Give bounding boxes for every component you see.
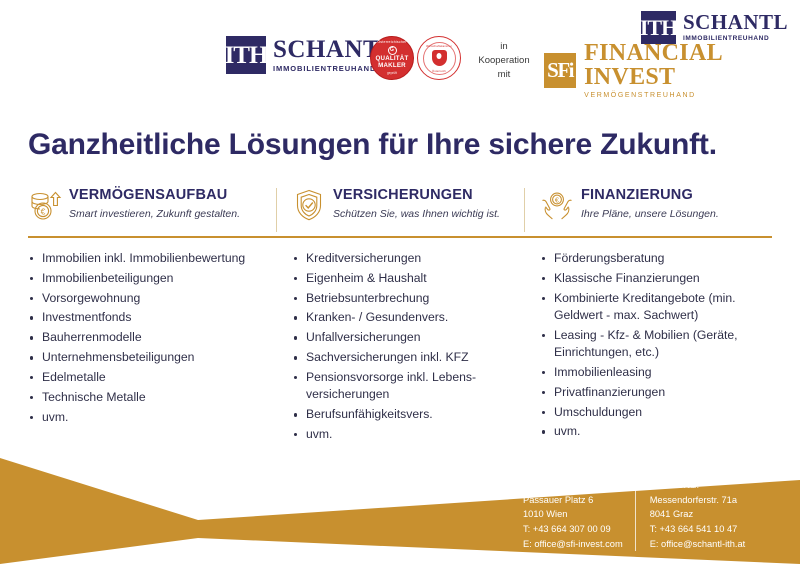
sfi-logo-subtitle: VERMÖGENSTREUHAND	[584, 92, 800, 99]
quality-seal-top-text: Österreichischer	[377, 41, 406, 45]
sfi-logo-mark: SFi	[544, 53, 576, 88]
quality-seal-ring-icon: G	[388, 46, 397, 55]
list-item: Immobilien inkl. Immobilienbewertung	[28, 250, 266, 267]
office-phone[interactable]: T: +43 664 541 10 47	[650, 522, 746, 537]
column-title-group: FINANZIERUNG Ihre Pläne, unsere Lösungen…	[581, 186, 719, 221]
list-item: Pensionsvorsorge inkl. Lebens-versicheru…	[292, 369, 514, 404]
crest-shield-icon	[432, 50, 447, 66]
office-phone[interactable]: T: +43 664 307 00 09	[523, 522, 623, 537]
page-headline: Ganzheitliche Lösungen für Ihre sichere …	[28, 128, 717, 162]
list-item: Leasing - Kfz- & Mobilien (Geräte, Einri…	[540, 327, 762, 362]
service-lists: Immobilien inkl. ImmobilienbewertungImmo…	[28, 250, 772, 446]
list-item: Sachversicherungen inkl. KFZ	[292, 349, 514, 366]
list-item: Förderungsberatung	[540, 250, 762, 267]
ith-schantl-logo-secondary: ITH SCHANTL IMMOBILIENTREUHAND	[641, 11, 788, 44]
column-divider	[276, 188, 277, 232]
list-item: uvm.	[540, 423, 762, 440]
office-name: Office Graz:	[650, 478, 746, 493]
office-graz-block: Office Graz: Messendorferstr. 71a 8041 G…	[636, 478, 746, 551]
column-subtitle: Smart investieren, Zukunft gestalten.	[69, 208, 240, 221]
service-column-headers: € VERMÖGENSAUFBAU Smart investieren, Zuk…	[28, 186, 772, 223]
list-item: Berufsunfähigkeitsvers.	[292, 406, 514, 423]
list-item: Privatfinanzierungen	[540, 384, 762, 401]
chamber-crest-seal-icon: Wirtschaftskammer Österreich	[417, 36, 461, 80]
bullet-list: FörderungsberatungKlassische Finanzierun…	[540, 250, 762, 441]
office-street: Passauer Platz 6	[523, 493, 623, 508]
sfi-logo-wordmark: FINANCIAL INVEST VERMÖGENSTREUHAND	[584, 41, 800, 99]
footer-contact-info: Office Wien: Passauer Platz 6 1010 Wien …	[523, 478, 745, 551]
gold-horizontal-rule	[28, 236, 772, 238]
column-subtitle: Ihre Pläne, unsere Lösungen.	[581, 208, 719, 221]
column-header-row: € VERMÖGENSAUFBAU Smart investieren, Zuk…	[28, 186, 264, 223]
office-city: 1010 Wien	[523, 507, 623, 522]
office-wien-block: Office Wien: Passauer Platz 6 1010 Wien …	[523, 478, 623, 551]
ith-logo-name-secondary: SCHANTL	[683, 12, 788, 33]
quality-seal-bottom-text: geprüft	[387, 71, 397, 75]
hands-euro-coin-icon: €	[540, 187, 574, 223]
column-header-finanzierung: € FINANZIERUNG Ihre Pläne, unsere Lösung…	[524, 186, 772, 223]
list-item: Kreditversicherungen	[292, 250, 514, 267]
list-item: Edelmetalle	[28, 369, 266, 386]
list-item: Immobilienbeteiligungen	[28, 270, 266, 287]
office-email[interactable]: E: office@schantl-ith.at	[650, 537, 746, 552]
ith-logo-glyph-secondary: ITH	[640, 17, 677, 39]
crest-seal-bottom-text: Österreich	[424, 69, 455, 73]
column-header-row: VERSICHERUNGEN Schützen Sie, was Ihnen w…	[292, 186, 512, 223]
list-item: Umschuldungen	[540, 404, 762, 421]
office-email[interactable]: E: office@sfi-invest.com	[523, 537, 623, 552]
list-item: uvm.	[28, 409, 266, 426]
column-subtitle: Schützen Sie, was Ihnen wichtig ist.	[333, 208, 500, 221]
band-left-chevron	[0, 458, 198, 564]
list-vermoegensaufbau: Immobilien inkl. ImmobilienbewertungImmo…	[28, 250, 276, 446]
list-item: Investmentfonds	[28, 309, 266, 326]
column-title: VERMÖGENSAUFBAU	[69, 188, 240, 204]
ith-logo-mark: ITH	[226, 36, 266, 74]
quality-seal-badge-icon: Österreichischer G QUALITÄT MAKLER geprü…	[370, 36, 414, 80]
ith-logo-wordmark-secondary: SCHANTL IMMOBILIENTREUHAND	[683, 12, 788, 43]
list-item: Kombinierte Kreditangebote (min. Geldwer…	[540, 290, 762, 325]
office-name: Office Wien:	[523, 478, 623, 493]
sfi-financial-invest-logo: SFi FINANCIAL INVEST VERMÖGENSTREUHAND	[544, 41, 800, 99]
ith-logo-mark-secondary: ITH	[641, 11, 676, 44]
office-city: 8041 Graz	[650, 507, 746, 522]
column-header-versicherungen: VERSICHERUNGEN Schützen Sie, was Ihnen w…	[276, 186, 524, 223]
sfi-logo-name: FINANCIAL INVEST	[584, 41, 800, 89]
list-item: Vorsorgewohnung	[28, 290, 266, 307]
header-logo-bar: ITH SCHANTL IMMOBILIENTREUHAND Österreic…	[0, 0, 800, 110]
list-item: Kranken- / Gesundenvers.	[292, 309, 514, 326]
list-item: Klassische Finanzierungen	[540, 270, 762, 287]
sfi-logo-glyph: SFi	[547, 60, 573, 81]
column-title: VERSICHERUNGEN	[333, 188, 500, 204]
cooperation-label: in Kooperation mit	[470, 40, 538, 81]
bullet-list: KreditversicherungenEigenheim & Haushalt…	[292, 250, 514, 443]
list-finanzierung: FörderungsberatungKlassische Finanzierun…	[524, 250, 772, 446]
list-item: Technische Metalle	[28, 389, 266, 406]
column-title-group: VERSICHERUNGEN Schützen Sie, was Ihnen w…	[333, 186, 500, 221]
column-divider	[524, 188, 525, 232]
list-versicherungen: KreditversicherungenEigenheim & Haushalt…	[276, 250, 524, 446]
column-title: FINANZIERUNG	[581, 188, 719, 204]
coins-euro-arrow-icon: €	[28, 187, 62, 223]
list-item: Bauherrenmodelle	[28, 329, 266, 346]
list-item: Eigenheim & Haushalt	[292, 270, 514, 287]
ith-logo-subtitle-secondary: IMMOBILIENTREUHAND	[683, 36, 788, 43]
crest-seal-inner-ring: Wirtschaftskammer Österreich	[423, 42, 456, 75]
list-item: Unfallversicherungen	[292, 329, 514, 346]
column-header-vermoegensaufbau: € VERMÖGENSAUFBAU Smart investieren, Zuk…	[28, 186, 276, 223]
quality-seal-line2: MAKLER	[378, 63, 406, 70]
list-item: Unternehmensbeteiligungen	[28, 349, 266, 366]
shield-check-icon	[292, 187, 326, 223]
list-item: uvm.	[292, 426, 514, 443]
crest-seal-top-text: Wirtschaftskammer	[424, 44, 455, 48]
list-item: Betriebsunterbrechung	[292, 290, 514, 307]
svg-text:€: €	[41, 207, 46, 217]
column-header-row: € FINANZIERUNG Ihre Pläne, unsere Lösung…	[540, 186, 760, 223]
bullet-list: Immobilien inkl. ImmobilienbewertungImmo…	[28, 250, 266, 426]
column-title-group: VERMÖGENSAUFBAU Smart investieren, Zukun…	[69, 186, 240, 221]
office-street: Messendorferstr. 71a	[650, 493, 746, 508]
ith-logo-glyph: ITH	[225, 43, 268, 68]
list-item: Immobilienleasing	[540, 364, 762, 381]
